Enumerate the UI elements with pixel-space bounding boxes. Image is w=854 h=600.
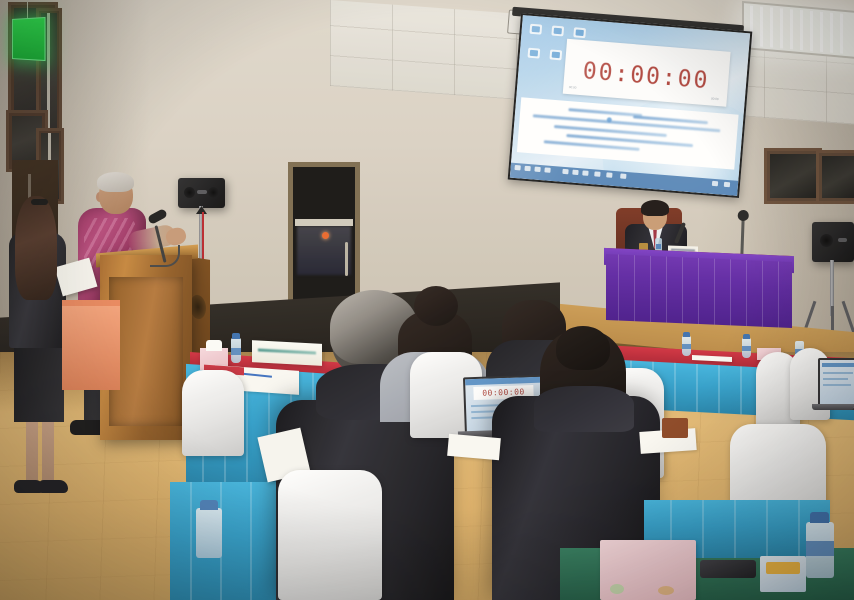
exit-sign [12, 17, 45, 61]
book [662, 418, 688, 438]
hair-clip [31, 199, 48, 205]
door-sticker-icon [322, 232, 329, 239]
document [447, 434, 501, 460]
bottle-cap [683, 332, 690, 337]
standing-woman-leg [42, 418, 54, 484]
water-bottle [196, 508, 222, 558]
water-bottle [806, 522, 834, 578]
pink-tissue-box [600, 540, 696, 600]
door-handle[interactable] [345, 242, 348, 276]
table-name-card [252, 340, 322, 366]
snack-box [760, 556, 806, 592]
loudspeaker-left [178, 178, 225, 208]
chairman-hair [641, 200, 669, 216]
bottle-cap [743, 334, 750, 339]
standing-woman-skirt [14, 344, 64, 422]
side-table-skirt [62, 306, 120, 390]
projection-screen: 00:00:00 00:00 00:00 [508, 13, 753, 198]
podium-speaker-hair [97, 172, 134, 192]
bottle-cap [232, 333, 240, 339]
audience-member-head [556, 326, 610, 370]
standing-woman-hair [15, 196, 57, 300]
standing-woman-shoe [38, 480, 68, 493]
audience-member-shoulders [534, 386, 634, 432]
head-table-skirt [606, 254, 792, 328]
tissue [206, 340, 222, 351]
bottle-cap [810, 512, 829, 523]
ceiling-light-panel [742, 1, 854, 59]
conference-room-photo: 00:00:00 00:00 00:00 [0, 0, 854, 600]
laptop-screen[interactable] [818, 358, 854, 410]
chair-cover [182, 370, 244, 456]
window-right-a [764, 148, 822, 204]
eyeglasses-icon [700, 560, 756, 578]
laptop-base [812, 404, 854, 410]
water-bottle [682, 336, 691, 356]
water-bottle [742, 338, 751, 358]
bottle-cap [200, 500, 218, 510]
standing-woman-leg [26, 418, 38, 484]
window-right-b [816, 150, 854, 204]
loudspeaker-right [812, 222, 854, 262]
chair-cover [278, 470, 382, 600]
water-bottle [231, 338, 241, 363]
hair-bun [414, 286, 458, 326]
